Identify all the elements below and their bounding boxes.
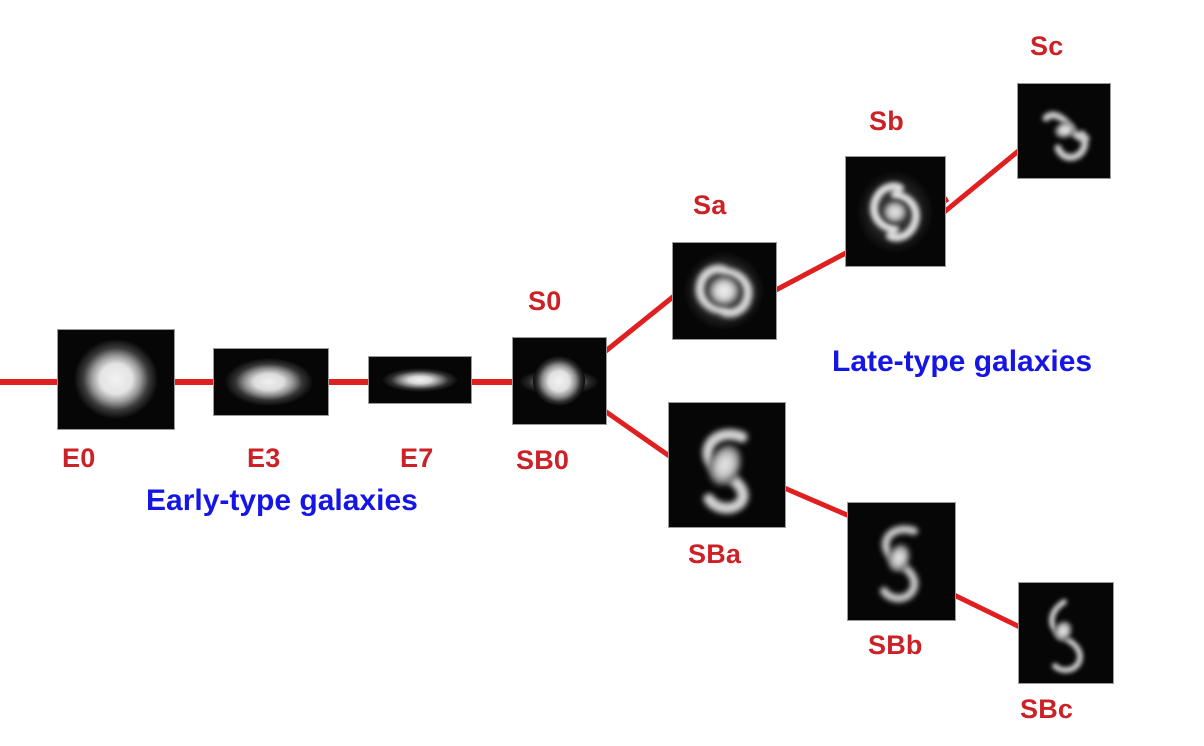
spiral-sa-render bbox=[673, 243, 776, 339]
galaxy-image-sb bbox=[846, 157, 945, 266]
node-label-sb: Sb bbox=[869, 108, 904, 135]
barred-spiral-sbc-render bbox=[1019, 583, 1113, 683]
galaxy-image-sbc bbox=[1019, 583, 1113, 683]
node-label-sb0: SB0 bbox=[516, 447, 569, 474]
edge-s0-sa bbox=[602, 292, 679, 354]
galaxy-image-sc bbox=[1018, 84, 1110, 178]
node-label-sc: Sc bbox=[1030, 33, 1063, 60]
galaxy-image-e3 bbox=[214, 349, 328, 415]
galaxy-image-s0 bbox=[513, 338, 606, 424]
galaxy-image-sa bbox=[673, 243, 776, 339]
lenticular-s0-render bbox=[513, 338, 606, 424]
node-label-sba: SBa bbox=[688, 541, 741, 568]
group-label-early-type: Early-type galaxies bbox=[146, 486, 418, 516]
node-label-s0: S0 bbox=[528, 288, 561, 315]
node-label-sbb: SBb bbox=[868, 632, 923, 659]
barred-spiral-sba-render bbox=[669, 403, 785, 527]
node-label-sbc: SBc bbox=[1020, 696, 1073, 723]
hubble-tuning-fork-diagram: E0 E3 bbox=[0, 0, 1204, 746]
spiral-sb-render bbox=[846, 157, 945, 266]
node-label-e3: E3 bbox=[247, 445, 280, 472]
node-label-e0: E0 bbox=[62, 445, 95, 472]
elliptical-e7-render bbox=[369, 357, 471, 403]
galaxy-image-sbb bbox=[848, 503, 955, 620]
elliptical-e3-render bbox=[214, 349, 328, 415]
group-label-late-type: Late-type galaxies bbox=[832, 347, 1092, 377]
galaxy-image-e0 bbox=[58, 330, 174, 429]
galaxy-image-e7 bbox=[369, 357, 471, 403]
edge-sb0-sba bbox=[602, 409, 675, 460]
node-label-sa: Sa bbox=[693, 192, 726, 219]
spiral-sc-render bbox=[1018, 84, 1110, 178]
edge-sbb-sbc bbox=[952, 594, 1024, 629]
elliptical-e0-render bbox=[58, 330, 174, 429]
node-label-e7: E7 bbox=[400, 445, 433, 472]
galaxy-image-sba bbox=[669, 403, 785, 527]
edge-sb-sc bbox=[943, 148, 1022, 213]
barred-spiral-sbb-render bbox=[848, 503, 955, 620]
